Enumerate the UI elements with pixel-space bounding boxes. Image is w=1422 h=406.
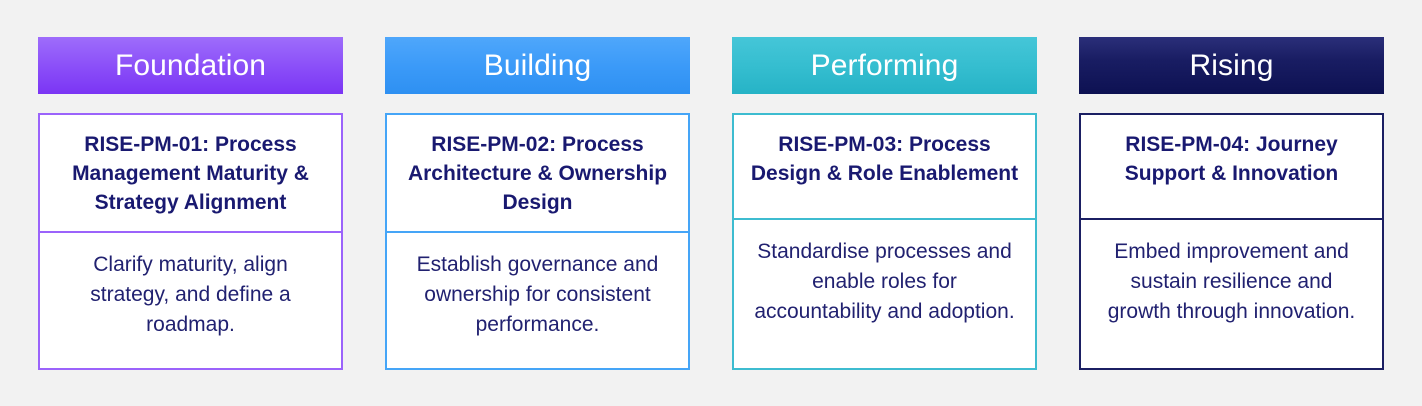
stage-header-foundation: Foundation bbox=[38, 37, 343, 94]
stage-header-building: Building bbox=[385, 37, 690, 94]
card-description: Embed improvement and sustain resilience… bbox=[1097, 237, 1366, 326]
stage-card-rising: RISE-PM-04: Journey Support & Innovation… bbox=[1079, 113, 1384, 370]
card-title-zone: RISE-PM-03: Process Design & Role Enable… bbox=[734, 115, 1035, 220]
card-description: Clarify maturity, align strategy, and de… bbox=[56, 250, 325, 339]
card-title: RISE-PM-01: Process Management Maturity … bbox=[54, 131, 327, 217]
stage-card-building: RISE-PM-02: Process Architecture & Owner… bbox=[385, 113, 690, 370]
stage-header-label: Building bbox=[484, 51, 592, 81]
stage-column-performing: Performing RISE-PM-03: Process Design & … bbox=[732, 37, 1037, 370]
stage-card-foundation: RISE-PM-01: Process Management Maturity … bbox=[38, 113, 343, 370]
maturity-stages-board: Foundation RISE-PM-01: Process Managemen… bbox=[0, 0, 1422, 406]
card-body-zone: Clarify maturity, align strategy, and de… bbox=[40, 233, 341, 368]
stage-column-building: Building RISE-PM-02: Process Architectur… bbox=[385, 37, 690, 370]
card-title-zone: RISE-PM-04: Journey Support & Innovation bbox=[1081, 115, 1382, 220]
stage-column-rising: Rising RISE-PM-04: Journey Support & Inn… bbox=[1079, 37, 1384, 370]
stage-column-foundation: Foundation RISE-PM-01: Process Managemen… bbox=[38, 37, 343, 370]
card-body-zone: Establish governance and ownership for c… bbox=[387, 233, 688, 368]
stage-header-rising: Rising bbox=[1079, 37, 1384, 94]
card-title: RISE-PM-04: Journey Support & Innovation bbox=[1095, 131, 1368, 189]
card-title: RISE-PM-02: Process Architecture & Owner… bbox=[401, 131, 674, 217]
card-title-zone: RISE-PM-01: Process Management Maturity … bbox=[40, 115, 341, 233]
card-description: Establish governance and ownership for c… bbox=[403, 250, 672, 339]
stage-header-label: Foundation bbox=[115, 51, 266, 81]
card-title: RISE-PM-03: Process Design & Role Enable… bbox=[748, 131, 1021, 189]
stage-card-performing: RISE-PM-03: Process Design & Role Enable… bbox=[732, 113, 1037, 370]
card-description: Standardise processes and enable roles f… bbox=[750, 237, 1019, 326]
stage-header-label: Performing bbox=[811, 51, 959, 81]
card-body-zone: Standardise processes and enable roles f… bbox=[734, 220, 1035, 368]
card-title-zone: RISE-PM-02: Process Architecture & Owner… bbox=[387, 115, 688, 233]
stage-header-label: Rising bbox=[1190, 51, 1274, 81]
stage-header-performing: Performing bbox=[732, 37, 1037, 94]
card-body-zone: Embed improvement and sustain resilience… bbox=[1081, 220, 1382, 368]
